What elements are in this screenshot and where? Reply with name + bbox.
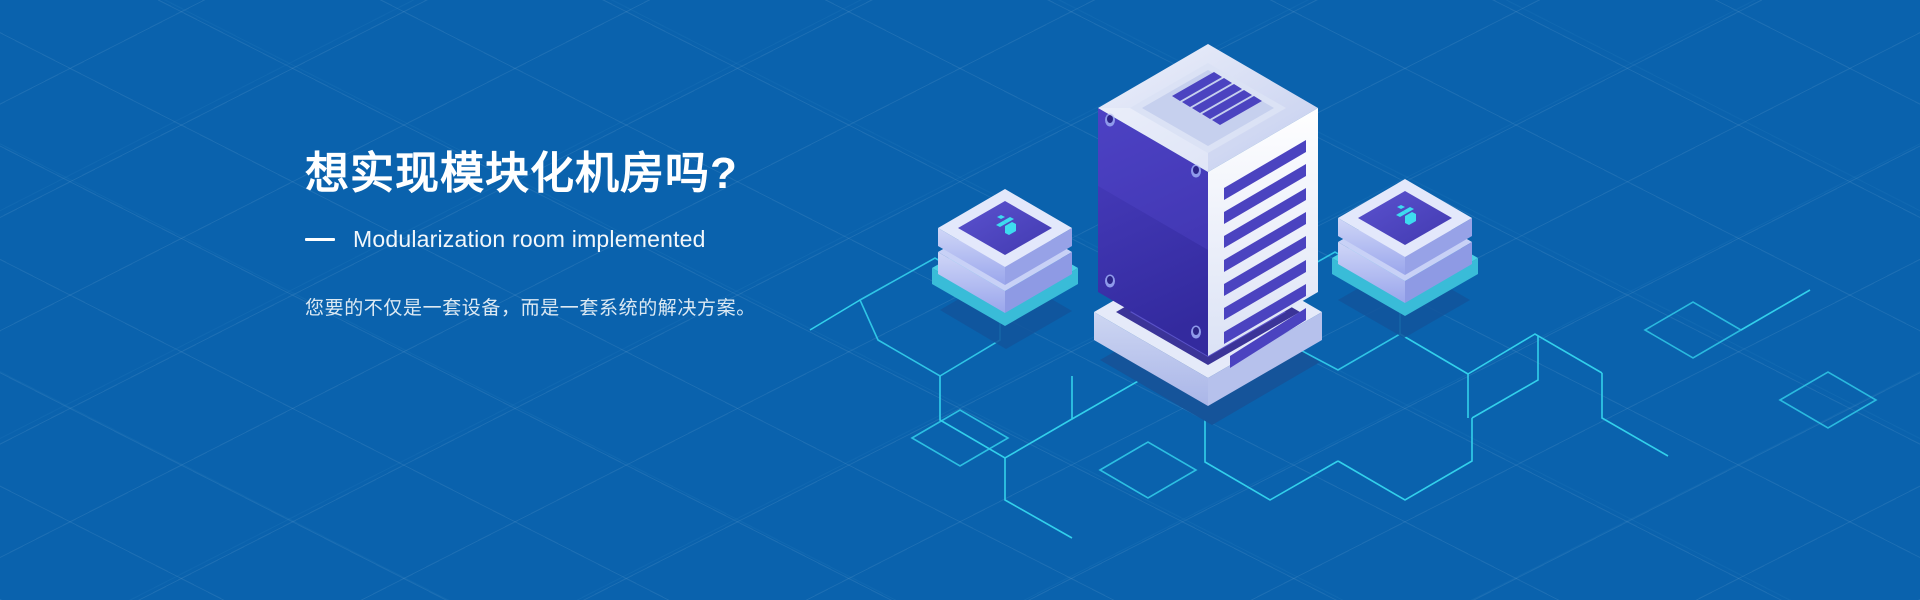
hero-banner: 想实现模块化机房吗? Modularization room implement… [0, 0, 1920, 600]
hero-illustration [800, 0, 1920, 600]
page-subtitle: Modularization room implemented [353, 226, 706, 253]
dash-marker-icon [305, 238, 335, 241]
